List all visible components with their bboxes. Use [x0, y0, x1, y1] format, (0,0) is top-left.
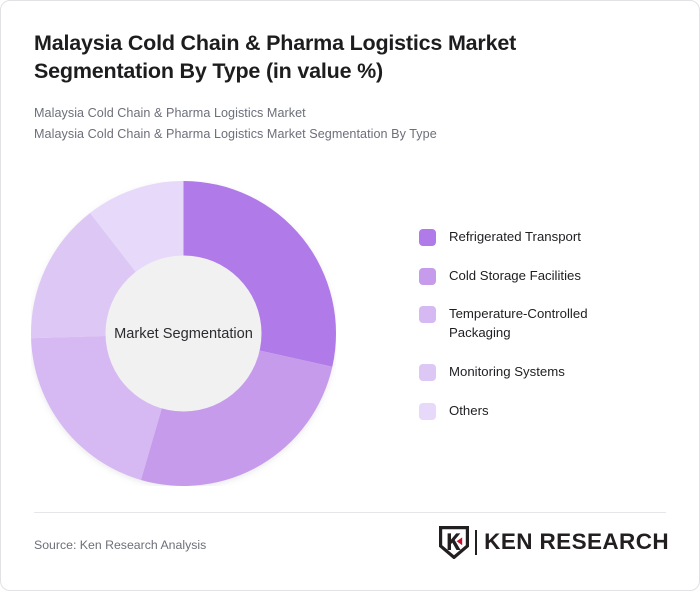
legend-item-label: Cold Storage Facilities: [449, 267, 581, 286]
legend-item-label: Refrigerated Transport: [449, 228, 581, 247]
donut-svg: [31, 181, 336, 486]
legend-item[interactable]: Refrigerated Transport: [419, 228, 669, 247]
source-note: Source: Ken Research Analysis: [34, 538, 206, 552]
chart-body: Market Segmentation Refrigerated Transpo…: [1, 166, 700, 506]
legend-swatch-icon: [419, 229, 436, 246]
chart-card: Malaysia Cold Chain & Pharma Logistics M…: [0, 0, 700, 591]
donut-hole: [106, 256, 262, 412]
logo-divider: [475, 530, 477, 555]
chart-header: Malaysia Cold Chain & Pharma Logistics M…: [34, 29, 669, 144]
legend-swatch-icon: [419, 364, 436, 381]
legend-item[interactable]: Monitoring Systems: [419, 363, 669, 382]
ken-research-shield-icon: [439, 526, 469, 559]
legend-swatch-icon: [419, 306, 436, 323]
legend-item-label: Monitoring Systems: [449, 363, 565, 382]
legend-item[interactable]: Others: [419, 402, 669, 421]
legend-swatch-icon: [419, 268, 436, 285]
donut-chart: Market Segmentation: [31, 181, 336, 486]
subtitle-block: Malaysia Cold Chain & Pharma Logistics M…: [34, 103, 669, 145]
legend-item-label: Others: [449, 402, 489, 421]
ken-research-logo: KEN RESEARCH: [439, 525, 669, 559]
page-title: Malaysia Cold Chain & Pharma Logistics M…: [34, 29, 614, 86]
legend-swatch-icon: [419, 403, 436, 420]
logo-text: KEN RESEARCH: [484, 531, 669, 554]
subtitle-line-2: Malaysia Cold Chain & Pharma Logistics M…: [34, 124, 669, 145]
footer-divider: [34, 512, 666, 513]
subtitle-line-1: Malaysia Cold Chain & Pharma Logistics M…: [34, 103, 669, 124]
chart-legend: Refrigerated TransportCold Storage Facil…: [419, 228, 669, 420]
legend-item[interactable]: Temperature-Controlled Packaging: [419, 305, 669, 342]
legend-item[interactable]: Cold Storage Facilities: [419, 267, 669, 286]
legend-item-label: Temperature-Controlled Packaging: [449, 305, 631, 342]
